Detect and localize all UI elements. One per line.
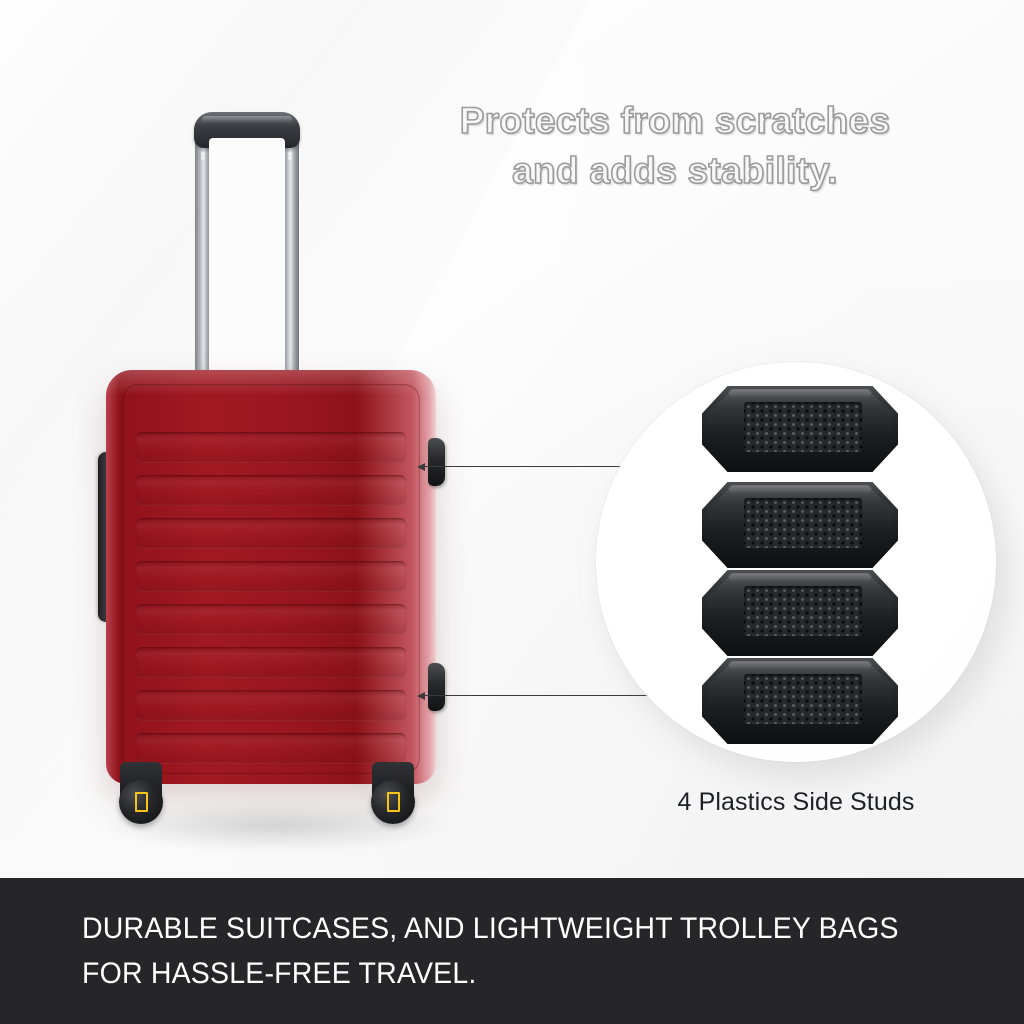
stud-highlight bbox=[729, 661, 870, 670]
plastic-side-stud-4 bbox=[702, 658, 898, 744]
stud-grip-texture bbox=[744, 402, 862, 452]
shell-ridge bbox=[136, 432, 406, 463]
shell-ridge bbox=[136, 518, 406, 549]
callout-caption: 4 Plastics Side Studs bbox=[596, 788, 996, 817]
suitcase-shell bbox=[106, 370, 436, 784]
spinner-wheel-right bbox=[371, 780, 415, 824]
feature-callout-circle bbox=[596, 362, 996, 762]
arrow-head-left-icon bbox=[417, 692, 425, 700]
national-geographic-logo bbox=[387, 792, 400, 812]
stud-highlight bbox=[729, 573, 870, 582]
plastic-side-stud-2 bbox=[702, 482, 898, 568]
shell-ridge bbox=[136, 561, 406, 592]
shell-ridge bbox=[136, 647, 406, 678]
stud-grip-texture bbox=[744, 586, 862, 636]
headline-text: Protects from scratches and adds stabili… bbox=[455, 96, 895, 195]
suitcase-side-stud-lower bbox=[428, 663, 445, 711]
suitcase-side-stud-upper bbox=[428, 438, 445, 486]
shell-ridge-group bbox=[136, 432, 406, 768]
stud-grip-texture bbox=[744, 674, 862, 724]
handle-opening bbox=[209, 138, 285, 376]
spinner-wheel-left bbox=[119, 780, 163, 824]
product-feature-banner: Protects from scratches and adds stabili… bbox=[0, 0, 1024, 1024]
handle-pin-left bbox=[201, 152, 205, 156]
stud-grip-texture bbox=[744, 498, 862, 548]
plastic-side-stud-1 bbox=[702, 386, 898, 472]
suitcase-product-image bbox=[106, 112, 436, 824]
shell-ridge bbox=[136, 690, 406, 721]
footer-tagline: DURABLE SUITCASES, AND LIGHTWEIGHT TROLL… bbox=[82, 906, 918, 996]
arrow-head-left-icon bbox=[417, 463, 425, 471]
plastic-side-stud-3 bbox=[702, 570, 898, 656]
trolley-handle bbox=[194, 112, 300, 402]
national-geographic-logo bbox=[135, 792, 148, 812]
stud-highlight bbox=[729, 485, 870, 494]
shell-ridge bbox=[136, 733, 406, 764]
footer-bar: DURABLE SUITCASES, AND LIGHTWEIGHT TROLL… bbox=[0, 878, 1024, 1024]
shell-ridge bbox=[136, 475, 406, 506]
handle-pin-right bbox=[288, 152, 292, 156]
stud-highlight bbox=[729, 389, 870, 398]
shell-ridge bbox=[136, 604, 406, 635]
